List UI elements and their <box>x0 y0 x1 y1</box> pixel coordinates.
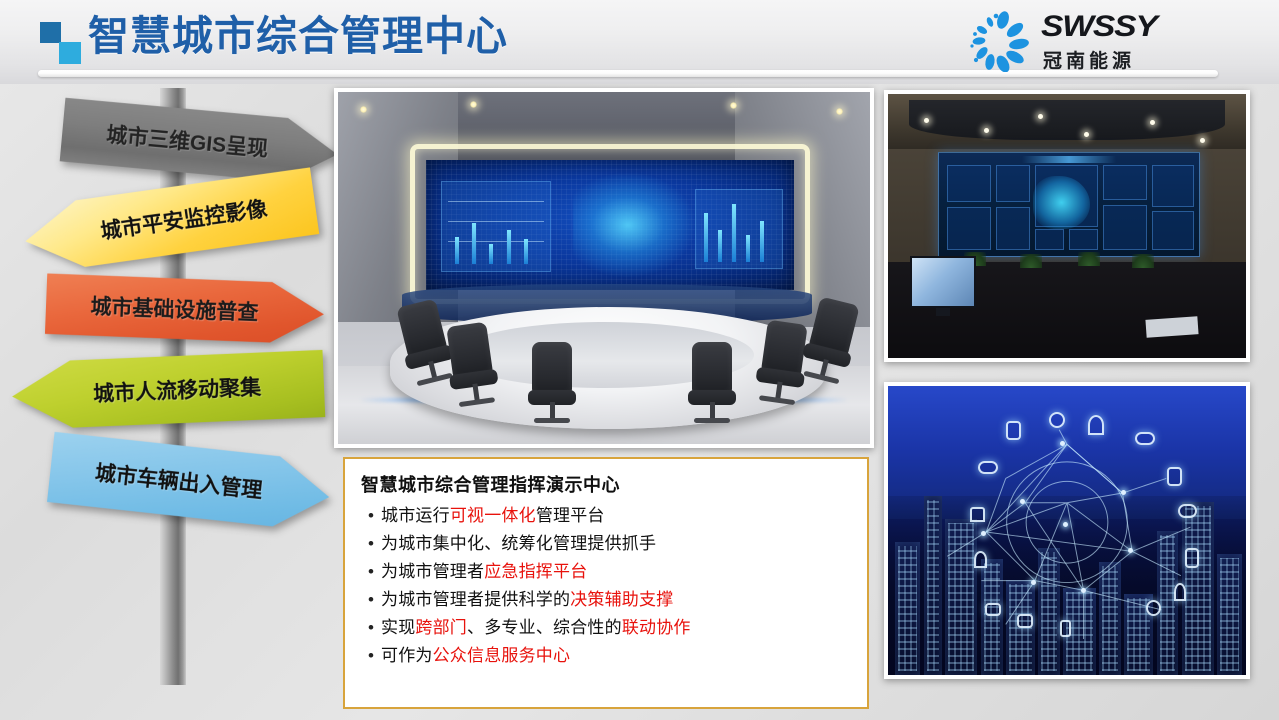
photo-control-room-led-wall <box>884 90 1250 362</box>
photo-command-center-round-table <box>334 88 874 448</box>
ceiling-light-icon <box>836 108 843 115</box>
bullet-marker: • <box>361 504 381 528</box>
square-light-blue-icon <box>59 42 81 64</box>
sign-city-crowd-movement[interactable]: 城市人流移动聚集 <box>10 344 325 437</box>
page-title: 智慧城市综合管理中心 <box>88 8 508 64</box>
sign-label: 城市三维GIS呈现 <box>105 119 269 164</box>
sign-city-vehicle-access[interactable]: 城市车辆出入管理 <box>46 425 333 539</box>
device-iot-icon <box>1017 614 1033 628</box>
antenna-iot-icon <box>974 551 987 568</box>
square-dark-blue-icon <box>40 22 61 43</box>
company-logo: SWSSY 冠南能源 <box>963 8 1223 74</box>
bullet-marker: • <box>361 644 381 668</box>
desktop-monitor <box>910 256 976 308</box>
china-map-graphic <box>1033 176 1090 230</box>
bullet-item: •为城市管理者应急指挥平台 <box>361 560 851 584</box>
plant-icon <box>1078 252 1100 266</box>
description-textbox: 智慧城市综合管理指挥演示中心 •城市运行可视一体化管理平台•为城市集中化、统筹化… <box>343 457 869 709</box>
bullet-item: •城市运行可视一体化管理平台 <box>361 504 851 528</box>
bullet-text: 为城市管理者提供科学的决策辅助支撑 <box>381 588 673 612</box>
ceiling-light-icon <box>360 106 367 113</box>
plant-icon <box>1132 254 1154 268</box>
ceiling <box>888 94 1246 156</box>
building-iot-icon <box>1006 421 1021 440</box>
plant-icon <box>1020 254 1042 268</box>
ceiling-light-icon <box>1150 120 1155 125</box>
sign-label: 城市基础设施普查 <box>90 290 259 326</box>
ceiling-light-icon <box>984 128 989 133</box>
bullet-marker: • <box>361 588 381 612</box>
bullet-item: •实现跨部门、多专业、综合性的联动协作 <box>361 616 851 640</box>
photo-smart-city-iot-network <box>884 382 1250 679</box>
sensor-iot-icon <box>1146 600 1161 616</box>
bullet-item: •为城市集中化、统筹化管理提供抓手 <box>361 532 851 556</box>
page-header: 智慧城市综合管理中心 SWSSY 冠南能源 <box>0 0 1279 84</box>
home-iot-icon <box>970 507 985 522</box>
sign-label: 城市人流移动聚集 <box>93 371 262 408</box>
monitor-stand <box>936 308 950 316</box>
logo-subtitle: 冠南能源 <box>1043 46 1135 73</box>
water-droplet-flower-icon <box>963 10 1029 72</box>
bullet-text: 为城市管理者应急指挥平台 <box>381 560 587 584</box>
ceiling-light-icon <box>1038 114 1043 119</box>
bullet-text: 可作为公众信息服务中心 <box>381 644 570 668</box>
sign-label: 城市平安监控影像 <box>99 193 270 246</box>
tower-iot-icon <box>1088 415 1104 435</box>
textbox-title: 智慧城市综合管理指挥演示中心 <box>361 471 851 497</box>
office-chair <box>526 342 578 428</box>
ceiling-light-icon <box>470 101 477 108</box>
chart-panel-left <box>441 181 551 272</box>
cloud-iot-icon <box>978 461 998 474</box>
bullet-item: •可作为公众信息服务中心 <box>361 644 851 668</box>
person-iot-icon <box>1049 412 1065 428</box>
video-wall-screen <box>426 160 794 290</box>
bullet-item: •为城市管理者提供科学的决策辅助支撑 <box>361 588 851 612</box>
led-video-wall <box>938 152 1200 257</box>
title-decor-squares <box>40 22 86 66</box>
gis-map-overlay <box>573 173 694 277</box>
signpost-group: 城市三维GIS呈现 城市平安监控影像 城市基础设施普查 城市人流移动聚集 城市车… <box>0 88 340 688</box>
vehicle-iot-icon <box>1178 504 1197 518</box>
sign-label: 城市车辆出入管理 <box>94 457 264 505</box>
ceiling-light-icon <box>1084 132 1089 137</box>
car-iot-icon <box>1135 432 1155 445</box>
train-iot-icon <box>1167 467 1182 486</box>
bullet-text: 为城市集中化、统筹化管理提供抓手 <box>381 532 656 556</box>
bullet-text: 城市运行可视一体化管理平台 <box>381 504 605 528</box>
office-chair <box>686 342 738 428</box>
bullet-text: 实现跨部门、多专业、综合性的联动协作 <box>381 616 691 640</box>
server-iot-icon <box>1185 548 1199 568</box>
phone-iot-icon <box>1060 620 1071 637</box>
bullet-marker: • <box>361 532 381 556</box>
paper-document <box>1145 316 1198 338</box>
ceiling-light-icon <box>1200 138 1205 143</box>
ceiling-light-icon <box>924 118 929 123</box>
lamp-iot-icon <box>1174 583 1186 601</box>
ceiling-light-icon <box>730 102 737 109</box>
sign-city-infrastructure-survey[interactable]: 城市基础设施普查 <box>45 268 326 351</box>
screen-iot-icon <box>985 603 1001 616</box>
chart-panel-right <box>695 189 783 270</box>
logo-wordmark: SWSSY <box>1041 10 1157 44</box>
textbox-bullet-list: •城市运行可视一体化管理平台•为城市集中化、统筹化管理提供抓手•为城市管理者应急… <box>361 504 851 668</box>
bullet-marker: • <box>361 616 381 640</box>
bullet-marker: • <box>361 560 381 584</box>
